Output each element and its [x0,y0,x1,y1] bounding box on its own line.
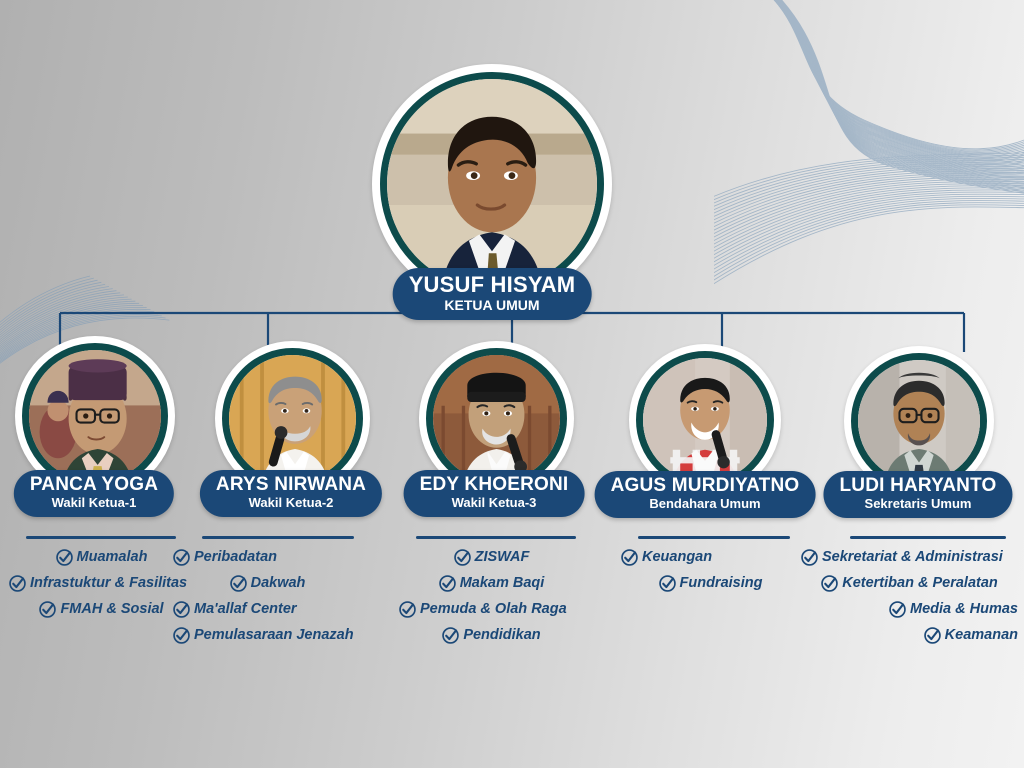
task-label: Keamanan [945,628,1018,643]
column-divider [416,536,576,539]
task-item[interactable]: Pendidikan [398,626,584,645]
org-chart-canvas: YUSUF HISYAM KETUA UMUM [0,0,1024,768]
portrait-edy-khoeroni [433,355,560,482]
avatar [636,351,774,489]
task-item[interactable]: Fundraising [620,574,800,593]
task-item[interactable]: FMAH & Sosial [8,600,194,619]
name-badge-member[interactable]: EDY KHOERONI Wakil Ketua-3 [404,470,585,517]
member-role: Wakil Ketua-1 [30,496,158,510]
task-label: FMAH & Sosial [60,602,163,617]
portrait-panca-yoga [29,350,161,482]
task-item[interactable]: Infrastuktur & Fasilitas [8,574,194,593]
check-circle-icon [923,626,942,645]
check-circle-icon [888,600,907,619]
task-label: ZISWAF [475,550,530,565]
check-circle-icon [438,574,457,593]
task-list: ZISWAF Makam Baqi Pemuda & Olah Raga [398,548,584,645]
column-divider [202,536,354,539]
member-name: LUDI HARYANTO [839,476,996,496]
task-label: Pendidikan [463,628,540,643]
check-circle-icon [55,548,74,567]
member-name: EDY KHOERONI [420,475,569,495]
check-circle-icon [620,548,639,567]
task-label: Pemulasaraan Jenazah [194,628,354,643]
check-circle-icon [229,574,248,593]
task-label: Ketertiban & Peralatan [842,576,998,591]
task-column: Muamalah Infrastuktur & Fasilitas FMAH &… [8,536,194,626]
check-circle-icon [658,574,677,593]
leader-role: KETUA UMUM [409,298,576,313]
task-label: Infrastuktur & Fasilitas [30,576,187,591]
task-label: Dakwah [251,576,306,591]
task-label: Pemuda & Olah Raga [420,602,567,617]
task-label: Muamalah [77,550,148,565]
task-column: Peribadatan Dakwah Ma'allaf Center [172,536,362,652]
check-circle-icon [172,600,191,619]
column-divider [638,536,790,539]
task-item[interactable]: Muamalah [8,548,194,567]
check-circle-icon [172,626,191,645]
member-role: Bendahara Umum [611,497,800,511]
task-label: Sekretariat & Administrasi [822,550,1003,565]
portrait-ludi-haryanto [858,360,980,482]
task-item[interactable]: Makam Baqi [398,574,584,593]
column-divider [26,536,176,539]
name-badge-member[interactable]: PANCA YOGA Wakil Ketua-1 [14,470,174,517]
avatar [851,353,987,489]
task-item[interactable]: Peribadatan [172,548,362,567]
check-circle-icon [8,574,27,593]
task-label: Media & Humas [910,602,1018,617]
avatar [22,343,168,489]
task-item[interactable]: Pemuda & Olah Raga [398,600,584,619]
name-badge-top[interactable]: YUSUF HISYAM KETUA UMUM [393,268,592,320]
task-label: Fundraising [680,576,763,591]
task-item[interactable]: Sekretariat & Administrasi [800,548,1018,567]
member-name: PANCA YOGA [30,475,158,495]
task-item[interactable]: Dakwah [172,574,362,593]
check-circle-icon [800,548,819,567]
member-name: ARYS NIRWANA [216,475,366,495]
name-badge-member[interactable]: AGUS MURDIYATNO Bendahara Umum [595,471,816,518]
avatar [222,348,363,489]
name-badge-member[interactable]: LUDI HARYANTO Sekretaris Umum [823,471,1012,518]
check-circle-icon [453,548,472,567]
task-column: Keuangan Fundraising [620,536,800,600]
task-label: Makam Baqi [460,576,545,591]
check-circle-icon [38,600,57,619]
check-circle-icon [172,548,191,567]
task-label: Keuangan [642,550,712,565]
task-column: Sekretariat & Administrasi Ketertiban & … [800,536,1018,652]
task-list: Keuangan Fundraising [620,548,800,593]
task-item[interactable]: Keuangan [620,548,800,567]
leader-name: YUSUF HISYAM [409,273,576,296]
member-role: Sekretaris Umum [839,497,996,511]
portrait-yusuf-hisyam [387,79,597,289]
org-node-top[interactable]: YUSUF HISYAM KETUA UMUM [372,64,612,304]
avatar-top [380,72,604,296]
task-item[interactable]: Keamanan [800,626,1018,645]
member-role: Wakil Ketua-2 [216,496,366,510]
check-circle-icon [441,626,460,645]
member-role: Wakil Ketua-3 [420,496,569,510]
check-circle-icon [820,574,839,593]
column-divider [850,536,1006,539]
task-list: Sekretariat & Administrasi Ketertiban & … [800,548,1018,645]
portrait-agus-murdiyatno [643,358,767,482]
portrait-arys-nirwana [229,355,356,482]
name-badge-member[interactable]: ARYS NIRWANA Wakil Ketua-2 [200,470,382,517]
task-label: Peribadatan [194,550,277,565]
task-item[interactable]: ZISWAF [398,548,584,567]
task-column: ZISWAF Makam Baqi Pemuda & Olah Raga [398,536,584,652]
task-item[interactable]: Pemulasaraan Jenazah [172,626,362,645]
check-circle-icon [398,600,417,619]
task-item[interactable]: Ketertiban & Peralatan [800,574,1018,593]
task-label: Ma'allaf Center [194,602,297,617]
task-item[interactable]: Media & Humas [800,600,1018,619]
task-item[interactable]: Ma'allaf Center [172,600,362,619]
task-list: Muamalah Infrastuktur & Fasilitas FMAH &… [8,548,194,619]
task-list: Peribadatan Dakwah Ma'allaf Center [172,548,362,645]
member-name: AGUS MURDIYATNO [611,476,800,496]
avatar [426,348,567,489]
